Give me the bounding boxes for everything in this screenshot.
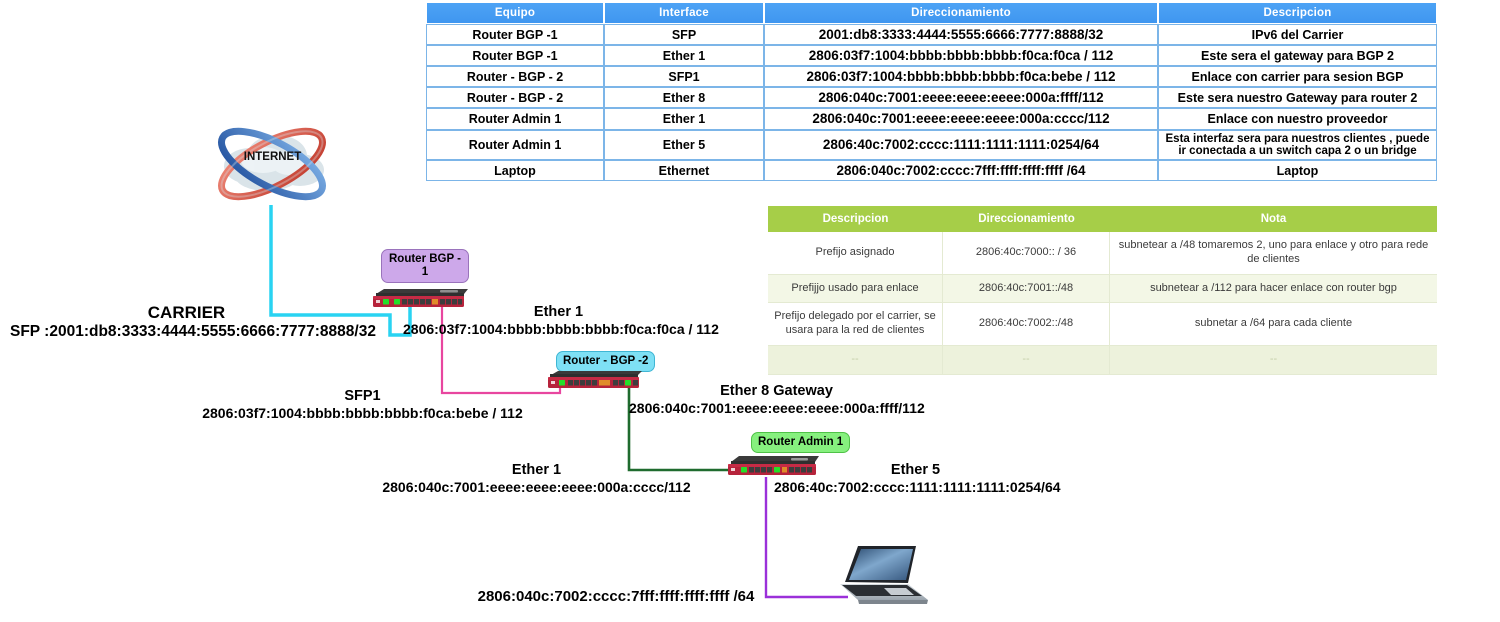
cell-direccionamiento: 2806:40c:7001::/48 — [943, 275, 1110, 304]
col-header-direccionamiento: Direccionamiento — [764, 2, 1158, 24]
cell-equipo: Router Admin 1 — [426, 108, 604, 129]
label-admin-ether5: Ether 5 2806:40c:7002:cccc:1111:1111:111… — [774, 462, 1057, 496]
col-header-descripcion: Descripcion — [1158, 2, 1437, 24]
cell-interface: SFP — [604, 24, 764, 45]
cell-direccionamiento: 2806:040c:7001:eeee:eeee:eeee:000a:cccc/… — [764, 108, 1158, 129]
cell-interface: Ethernet — [604, 160, 764, 181]
cell-equipo: Router BGP -1 — [426, 24, 604, 45]
cell-equipo: Laptop — [426, 160, 604, 181]
table-row: -- -- -- — [768, 346, 1437, 375]
cell-direccionamiento: 2806:040c:7002:cccc:7fff:ffff:ffff:ffff … — [764, 160, 1158, 181]
cell-descripcion: Laptop — [1158, 160, 1437, 181]
internet-cloud-icon — [205, 118, 340, 208]
col-header-equipo: Equipo — [426, 2, 604, 24]
cell-nota: subnetear a /112 para hacer enlace con r… — [1110, 275, 1437, 304]
internet-cloud: INTERNET — [205, 118, 340, 208]
label-bgp2-ether8: Ether 8 Gateway 2806:040c:7001:eeee:eeee… — [629, 383, 924, 417]
table-row: Prefijo asignado 2806:40c:7000:: / 36 su… — [768, 232, 1437, 275]
col-header-descripcion: Descripcion — [768, 206, 943, 232]
internet-label: INTERNET — [205, 151, 340, 163]
cell-direccionamiento: 2806:40c:7000:: / 36 — [943, 232, 1110, 275]
cell-nota: subnetar a /64 para cada cliente — [1110, 303, 1437, 346]
cell-direccionamiento: -- — [943, 346, 1110, 375]
label-carrier: CARRIER SFP :2001:db8:3333:4444:5555:666… — [10, 303, 363, 342]
cell-nota: -- — [1110, 346, 1437, 375]
label-laptop-address: 2806:040c:7002:cccc:7fff:ffff:ffff:ffff … — [471, 588, 761, 606]
cell-direccionamiento: 2806:03f7:1004:bbbb:bbbb:bbbb:f0ca:f0ca … — [764, 45, 1158, 66]
cell-descripcion: Enlace con carrier para sesion BGP — [1158, 66, 1437, 87]
table-row: Router BGP -1 Ether 1 2806:03f7:1004:bbb… — [426, 45, 1437, 66]
cell-descripcion: Esta interfaz sera para nuestros cliente… — [1158, 130, 1437, 161]
table-row: Router Admin 1 Ether 5 2806:40c:7002:ccc… — [426, 130, 1437, 161]
table-row: Router Admin 1 Ether 1 2806:040c:7001:ee… — [426, 108, 1437, 129]
cell-equipo: Router - BGP - 2 — [426, 87, 604, 108]
cell-interface: Ether 8 — [604, 87, 764, 108]
diagram-canvas: INTERNET Router BGP - 1 Router - BGP -2 — [0, 0, 1500, 622]
table-row: Prefijo delegado por el carrier, se usar… — [768, 303, 1437, 346]
cell-descripcion: Enlace con nuestro proveedor — [1158, 108, 1437, 129]
table-header-row: Equipo Interface Direccionamiento Descri… — [426, 2, 1437, 24]
table-header-row: Descripcion Direccionamiento Nota — [768, 206, 1437, 232]
cell-equipo: Router Admin 1 — [426, 130, 604, 161]
prefix-table: Descripcion Direccionamiento Nota Prefij… — [768, 206, 1437, 375]
cell-descripcion: Este sera nuestro Gateway para router 2 — [1158, 87, 1437, 108]
col-header-nota: Nota — [1110, 206, 1437, 232]
col-header-direccionamiento: Direccionamiento — [943, 206, 1110, 232]
laptop-icon — [832, 538, 932, 608]
cell-direccionamiento: 2001:db8:3333:4444:5555:6666:7777:8888/3… — [764, 24, 1158, 45]
cell-interface: SFP1 — [604, 66, 764, 87]
label-admin-ether1: Ether 1 2806:040c:7001:eeee:eeee:eeee:00… — [380, 462, 693, 496]
label-bgp2-sfp1: SFP1 2806:03f7:1004:bbbb:bbbb:bbbb:f0ca:… — [200, 388, 525, 422]
equipment-table: Equipo Interface Direccionamiento Descri… — [426, 2, 1437, 181]
cell-descripcion: Prefijo delegado por el carrier, se usar… — [768, 303, 943, 346]
cell-equipo: Router BGP -1 — [426, 45, 604, 66]
table-row: Prefijjo usado para enlace 2806:40c:7001… — [768, 275, 1437, 304]
cell-descripcion: Prefijo asignado — [768, 232, 943, 275]
laptop-device — [832, 538, 932, 613]
node-label-router-admin-1: Router Admin 1 — [751, 432, 850, 453]
cell-direccionamiento: 2806:03f7:1004:bbbb:bbbb:bbbb:f0ca:bebe … — [764, 66, 1158, 87]
cell-descripcion: Este sera el gateway para BGP 2 — [1158, 45, 1437, 66]
col-header-interface: Interface — [604, 2, 764, 24]
cell-descripcion: -- — [768, 346, 943, 375]
table-row: Router BGP -1 SFP 2001:db8:3333:4444:555… — [426, 24, 1437, 45]
table-row: Router - BGP - 2 Ether 8 2806:040c:7001:… — [426, 87, 1437, 108]
cell-descripcion: IPv6 del Carrier — [1158, 24, 1437, 45]
cell-interface: Ether 5 — [604, 130, 764, 161]
table-row: Laptop Ethernet 2806:040c:7002:cccc:7fff… — [426, 160, 1437, 181]
cell-equipo: Router - BGP - 2 — [426, 66, 604, 87]
label-bgp1-ether1: Ether 1 2806:03f7:1004:bbbb:bbbb:bbbb:f0… — [403, 304, 714, 338]
cell-interface: Ether 1 — [604, 45, 764, 66]
cell-descripcion: Prefijjo usado para enlace — [768, 275, 943, 304]
cell-interface: Ether 1 — [604, 108, 764, 129]
cell-nota: subnetear a /48 tomaremos 2, uno para en… — [1110, 232, 1437, 275]
cell-direccionamiento: 2806:040c:7001:eeee:eeee:eeee:000a:ffff/… — [764, 87, 1158, 108]
node-label-router-bgp-1: Router BGP - 1 — [381, 249, 469, 283]
table-row: Router - BGP - 2 SFP1 2806:03f7:1004:bbb… — [426, 66, 1437, 87]
cell-direccionamiento: 2806:40c:7002:cccc:1111:1111:1111:0254/6… — [764, 130, 1158, 161]
cell-direccionamiento: 2806:40c:7002::/48 — [943, 303, 1110, 346]
